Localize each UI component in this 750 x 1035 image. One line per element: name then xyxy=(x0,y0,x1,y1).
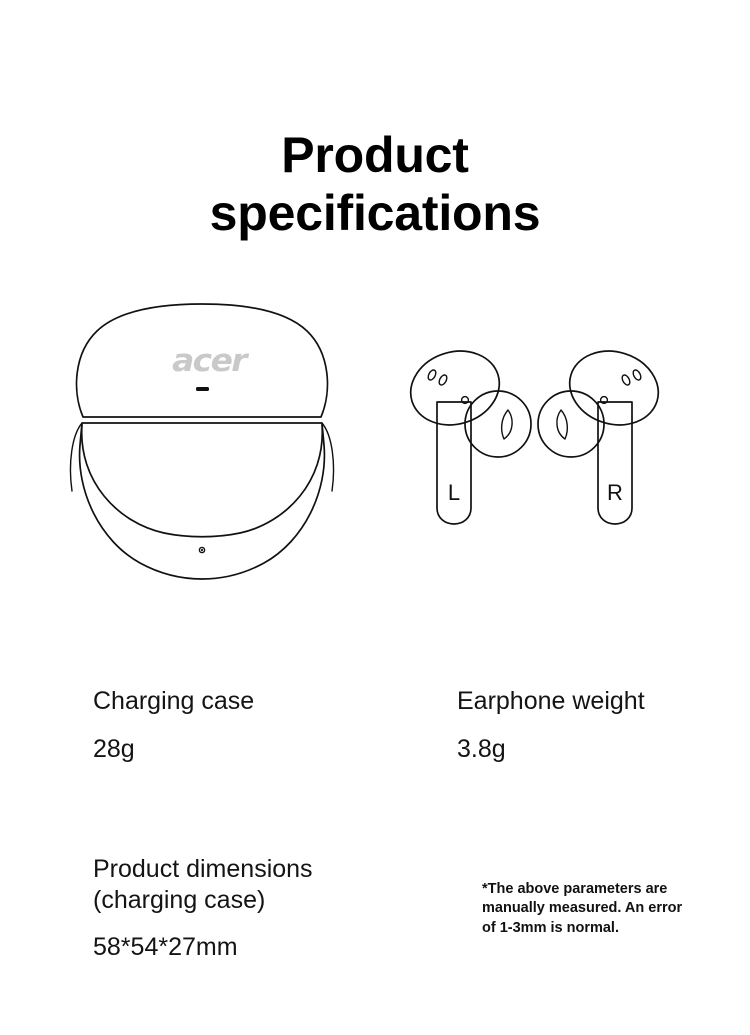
lid-slot-dash xyxy=(196,387,209,391)
spec-value-product-dimensions: 58*54*27mm xyxy=(93,932,313,962)
earbud-left-mic-slot-1 xyxy=(427,369,438,382)
case-led-indicator-core xyxy=(201,549,203,551)
page-title-line-1: Product xyxy=(0,126,750,184)
earbud-left-ear-tip-slit xyxy=(502,410,512,439)
earbud-left: L xyxy=(401,340,531,524)
case-inner-lip-arc xyxy=(82,425,323,537)
earbud-right-label: R xyxy=(607,480,623,505)
measurement-disclaimer-footnote: *The above parameters are manually measu… xyxy=(482,880,710,938)
earbud-left-body xyxy=(401,340,508,435)
spec-earphone-weight: Earphone weight 3.8g xyxy=(457,686,645,764)
earbud-left-mic-slot-2 xyxy=(438,374,449,387)
spec-charging-case-weight: Charging case 28g xyxy=(93,686,254,764)
spec-value-earphone-weight: 3.8g xyxy=(457,734,645,764)
spec-label-product-dimensions: Product dimensions (charging case) xyxy=(93,854,313,915)
page-title-line-2: specifications xyxy=(0,184,750,242)
earbud-right-mic-slot-1 xyxy=(632,369,643,382)
case-body-outline xyxy=(80,423,325,579)
earbud-right-ear-tip xyxy=(538,391,604,457)
earbud-left-ear-tip xyxy=(465,391,531,457)
earbud-right-mic-slot-2 xyxy=(621,374,632,387)
product-illustration-area: acer L xyxy=(0,295,750,595)
acer-logo: acer xyxy=(148,343,271,379)
charging-case-illustration xyxy=(52,295,352,600)
earbud-right-body xyxy=(560,340,667,435)
earbud-right-ear-tip-slit xyxy=(557,410,567,439)
earbuds-illustration: L R xyxy=(402,340,667,540)
spec-product-dimensions: Product dimensions (charging case) 58*54… xyxy=(93,854,313,962)
spec-label-earphone-weight: Earphone weight xyxy=(457,686,645,717)
spec-value-charging-case: 28g xyxy=(93,734,254,764)
earbud-right xyxy=(538,340,668,524)
page-title: Product specifications xyxy=(0,126,750,242)
spec-label-charging-case: Charging case xyxy=(93,686,254,717)
earbud-left-label: L xyxy=(448,480,460,505)
